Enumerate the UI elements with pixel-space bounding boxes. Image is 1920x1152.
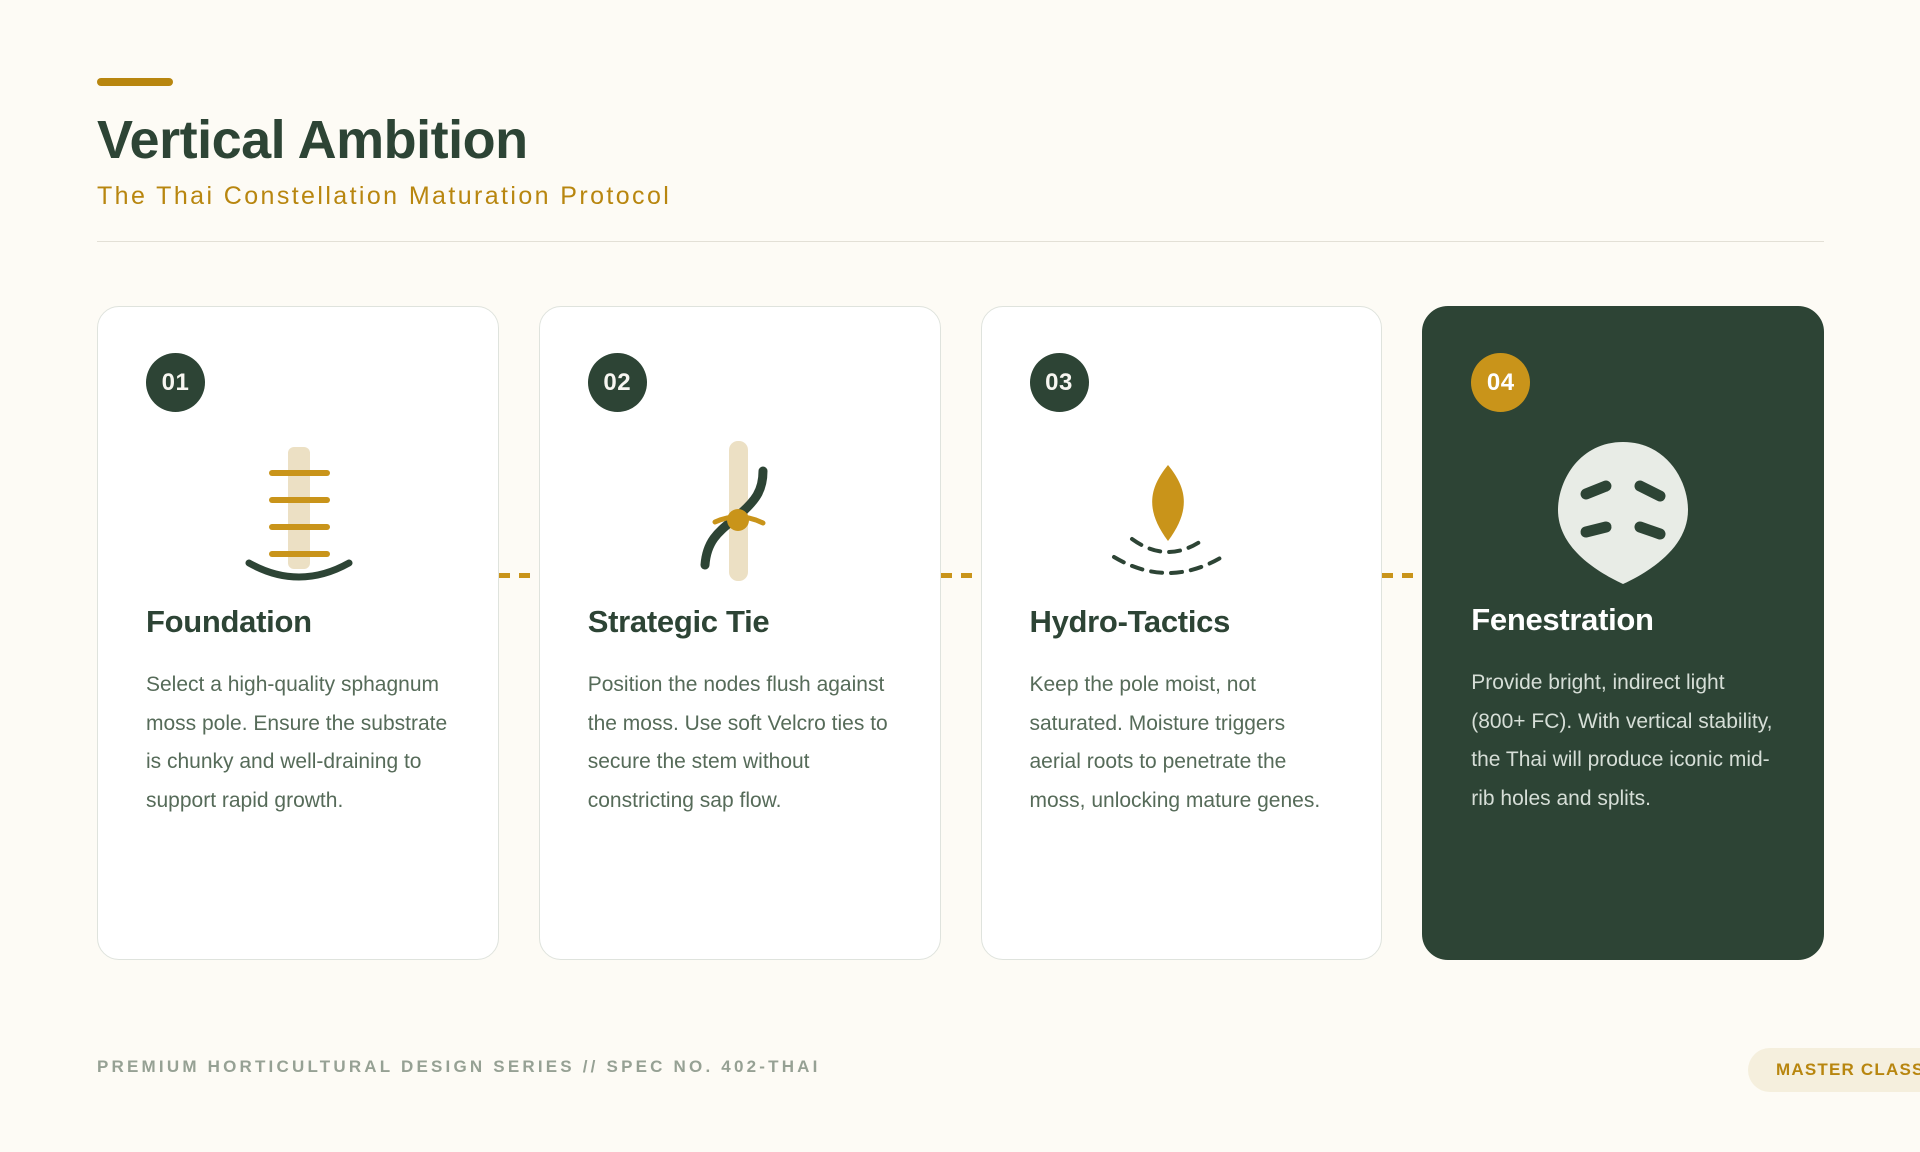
card-title: Fenestration: [1471, 602, 1775, 638]
card-title: Foundation: [146, 604, 450, 640]
card-connector-1: [499, 306, 539, 960]
card-number-badge: 02: [588, 353, 647, 412]
card-title: Strategic Tie: [588, 604, 892, 640]
card-body: Provide bright, indirect light (800+ FC)…: [1471, 664, 1775, 818]
page-subtitle: The Thai Constellation Maturation Protoc…: [97, 182, 1824, 211]
card-title: Hydro-Tactics: [1030, 604, 1334, 640]
card-body: Keep the pole moist, not saturated. Mois…: [1030, 666, 1334, 820]
page-title: Vertical Ambition: [97, 110, 1824, 170]
header-divider: [97, 241, 1824, 242]
card-number-badge: 01: [146, 353, 205, 412]
moss-pole-icon: [146, 430, 450, 590]
card-number-badge: 04: [1471, 353, 1530, 412]
water-droplet-icon: [1030, 430, 1334, 590]
card-row: 01 Foundation Select a high-quality spha…: [97, 306, 1824, 960]
slide-root: Vertical Ambition The Thai Constellation…: [0, 0, 1920, 1152]
card-strategic-tie[interactable]: 02 Strategic Tie Position the nodes flus…: [539, 306, 941, 960]
fenestrated-leaf-icon: [1471, 428, 1775, 588]
card-hydro-tactics[interactable]: 03 Hydro-Tactics Keep the pole moist, no…: [981, 306, 1383, 960]
card-body: Position the nodes flush against the mos…: [588, 666, 892, 820]
card-number-badge: 03: [1030, 353, 1089, 412]
card-foundation[interactable]: 01 Foundation Select a high-quality spha…: [97, 306, 499, 960]
master-class-badge: MASTER CLASS: [1748, 1048, 1920, 1092]
footer-spec-note: PREMIUM HORTICULTURAL DESIGN SERIES // S…: [97, 1057, 821, 1077]
slide-header: Vertical Ambition The Thai Constellation…: [97, 78, 1824, 242]
card-body: Select a high-quality sphagnum moss pole…: [146, 666, 450, 820]
accent-rule-icon: [97, 78, 173, 86]
card-fenestration[interactable]: 04 Fenestration Provide bright, indirect…: [1422, 306, 1824, 960]
card-connector-3: [1382, 306, 1422, 960]
card-connector-2: [941, 306, 981, 960]
stem-tie-icon: [588, 430, 892, 590]
